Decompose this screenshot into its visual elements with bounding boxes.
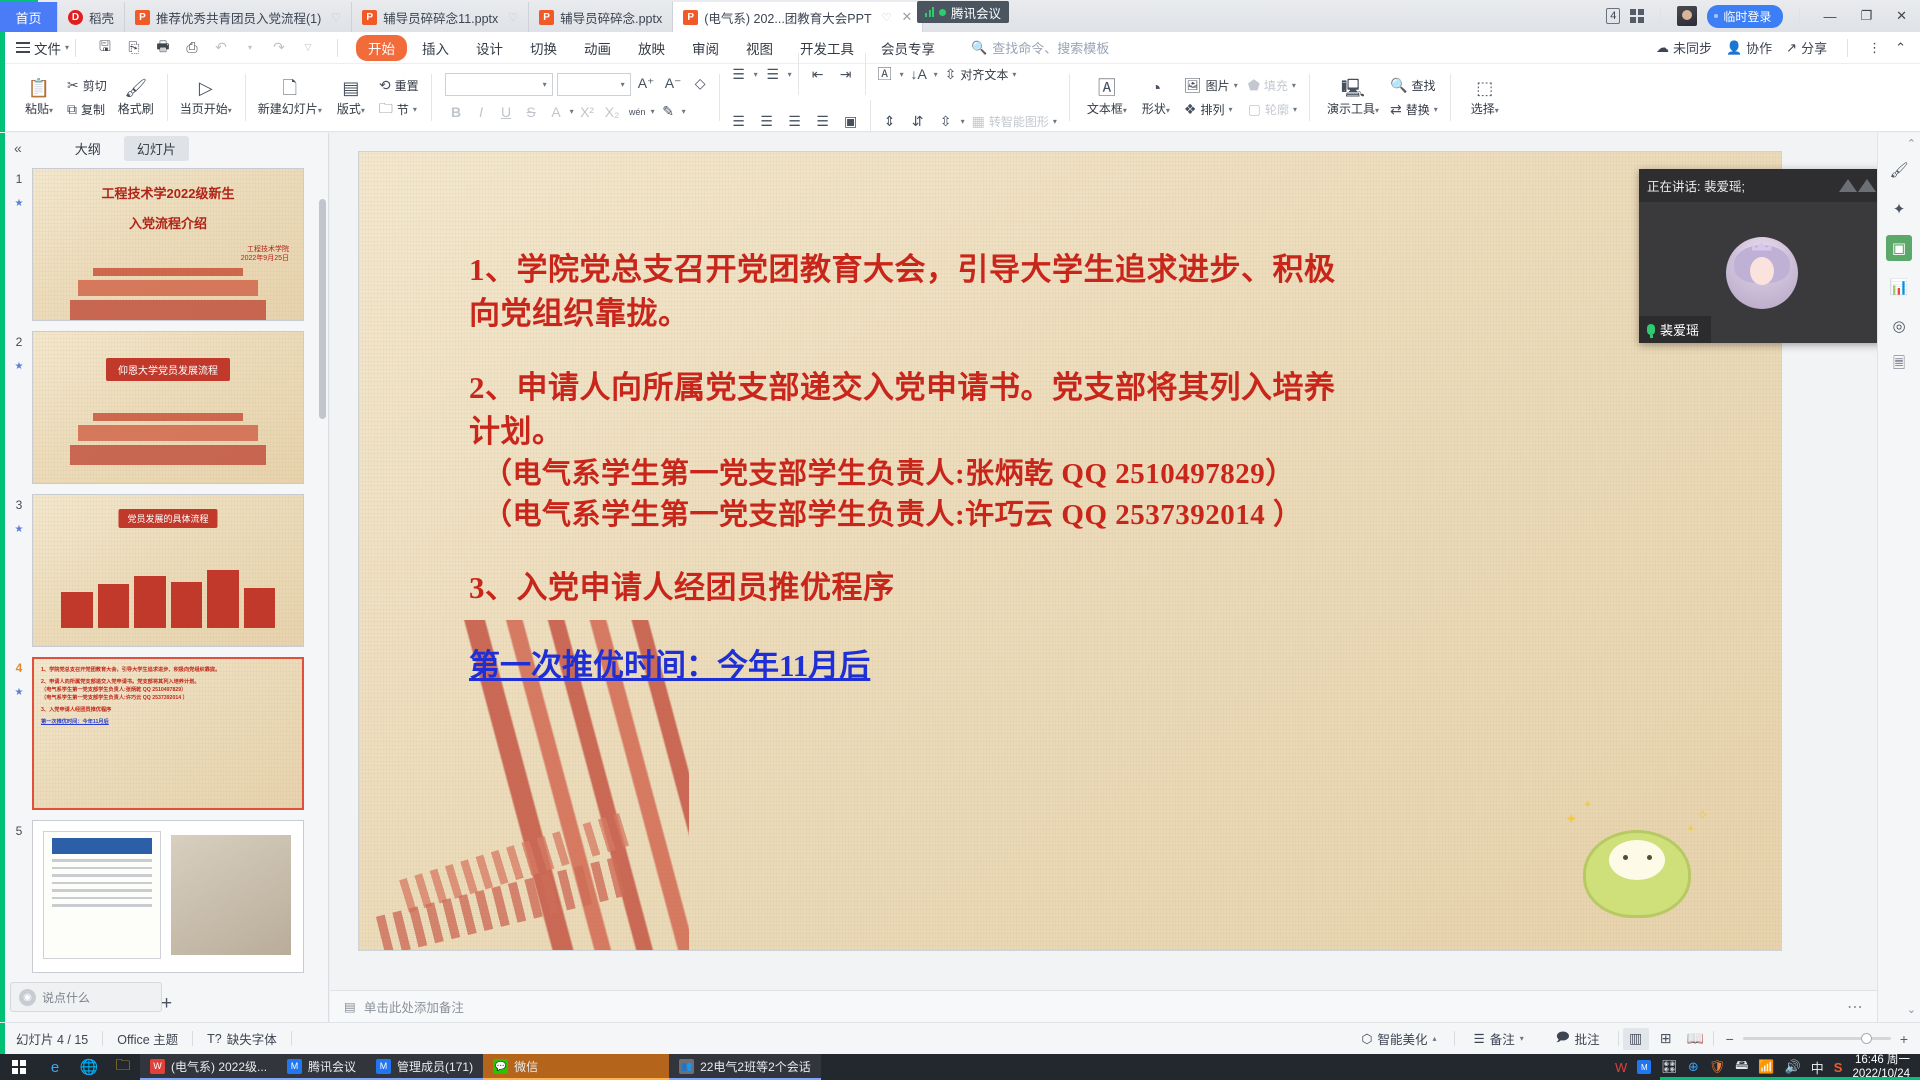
sync-status[interactable]: ☁ 未同步 bbox=[1656, 38, 1712, 57]
notes-bar[interactable]: ▤ 单击此处添加备注 ⋯ bbox=[330, 990, 1877, 1022]
location-icon[interactable]: ◎ bbox=[1886, 313, 1912, 339]
thumb-heading: 仰恩大学党员发展流程 bbox=[106, 358, 230, 381]
pinyin-guide-button[interactable]: wén bbox=[626, 101, 649, 123]
speak-placeholder: 说点什么 bbox=[42, 989, 90, 1006]
spacing-options-icon[interactable]: ⇳ bbox=[933, 110, 959, 132]
tab-slideshow[interactable]: 放映 bbox=[626, 35, 677, 61]
person-add-icon: 👤 bbox=[1726, 40, 1742, 56]
video-panel-body: 裴爱瑶 bbox=[1639, 202, 1884, 343]
divider bbox=[1618, 1031, 1619, 1046]
expand-sidebar-icon[interactable]: ⌃ bbox=[1907, 137, 1916, 150]
align-text-button[interactable]: ⇳ 对齐文本 ▾ bbox=[940, 63, 1022, 85]
thumbnail-item-2[interactable]: 2 ★ 仰恩大学党员发展流程 bbox=[0, 326, 328, 489]
status-bar: 幻灯片 4 / 15 Office 主题 T? 缺失字体 ⬡ 智能美化 ▴ ☰ … bbox=[0, 1022, 1920, 1054]
clock[interactable]: 16:46 周一 2022/10/24 bbox=[1852, 1053, 1910, 1080]
thumb-body-text: 1、学院党总支召开党团教育大会，引导大学生追求进步、积极向党组织靠拢。 2、申请… bbox=[41, 666, 295, 726]
animation-star-icon: ★ bbox=[6, 198, 32, 209]
pin-icon[interactable]: ♡ bbox=[508, 11, 518, 24]
increase-indent-icon[interactable]: ⇥ bbox=[833, 63, 859, 85]
reset-button[interactable]: ⟲ 重置 bbox=[374, 75, 424, 97]
taskbar-app-meeting-label: 腾讯会议 bbox=[308, 1058, 356, 1075]
zoom-out-button[interactable]: − bbox=[1726, 1031, 1734, 1047]
volume-tray-icon[interactable]: 🔊 bbox=[1785, 1059, 1801, 1075]
tiananmen-illustration bbox=[53, 403, 283, 483]
slide-thumbnail[interactable]: 工程技术学2022级新生 入党流程介绍 工程技术学院 2022年9月25日 bbox=[32, 168, 304, 321]
grow-font-button[interactable]: A⁺ bbox=[635, 73, 658, 95]
tencent-meeting-logo-icon bbox=[1839, 179, 1876, 192]
tab-start[interactable]: 开始 bbox=[356, 35, 407, 61]
slideshow-group: ▷ 当页开始▾ bbox=[167, 64, 245, 131]
chevron-down-icon: ▾ bbox=[1520, 1034, 1524, 1043]
scissors-icon: ✂ bbox=[67, 77, 79, 94]
reading-view-icon[interactable]: 📖 bbox=[1683, 1028, 1709, 1050]
tab-design[interactable]: 设计 bbox=[464, 35, 515, 61]
smart-art-icon: ▦ bbox=[972, 113, 985, 130]
font-warning-icon: T? bbox=[207, 1032, 222, 1046]
star-effects-icon[interactable]: ✦ bbox=[1886, 196, 1912, 222]
slide-number: 4 ★ bbox=[6, 657, 32, 698]
menu-bar-right: ☁ 未同步 👤 协作 ↗ 分享 ⋮ ⌃ bbox=[1656, 38, 1920, 57]
minimize-button[interactable]: — bbox=[1816, 9, 1843, 24]
start-from-current-button[interactable]: ▷ 当页开始▾ bbox=[174, 75, 238, 121]
file-menu[interactable]: 文件 ▾ bbox=[0, 38, 69, 58]
notes-toggle-label: 备注 bbox=[1490, 1029, 1515, 1048]
divider bbox=[1847, 39, 1848, 57]
wifi-tray-icon[interactable]: 📶 bbox=[1758, 1059, 1774, 1075]
shapes-icon: ◔ bbox=[1150, 79, 1161, 97]
tab-outline[interactable]: 大纲 bbox=[62, 136, 114, 161]
zoom-slider[interactable]: − + bbox=[1718, 1031, 1908, 1047]
replace-label: 替换 bbox=[1406, 101, 1430, 118]
taskbar-app-wechat-label: 微信 bbox=[514, 1058, 538, 1075]
divider bbox=[1454, 1031, 1455, 1046]
green-accent bbox=[0, 1023, 5, 1055]
present-tools-label: 演示工具 bbox=[1327, 102, 1375, 116]
tools-group: 🖳 演示工具▾ 🔍 查找 ⇄ 替换▾ bbox=[1309, 64, 1450, 131]
tab-animation[interactable]: 动画 bbox=[572, 35, 623, 61]
tencent-meeting-label: 腾讯会议 bbox=[951, 3, 1001, 22]
superscript-button[interactable]: X² bbox=[576, 101, 599, 123]
fill-label: 填充 bbox=[1264, 77, 1288, 94]
thumb-process-chart bbox=[61, 566, 275, 628]
tab-docer-label: 稻壳 bbox=[89, 8, 114, 27]
windows-taskbar: e 🌐 🗀 W (电气系) 2022级... M 腾讯会议 M 管理成员(171… bbox=[0, 1054, 1920, 1080]
docer-icon: D bbox=[68, 10, 83, 25]
outline-button[interactable]: ▢ 轮廓▾ bbox=[1243, 99, 1302, 121]
powerpoint-icon: P bbox=[539, 10, 554, 25]
slide-editing-stage: ✦ ✦ ✧ ✦ 1、学院党总支召开党团教育大会，引导大学生追求进步、积极 向党组… bbox=[330, 133, 1877, 1022]
thumbnail-item-5[interactable]: 5 bbox=[0, 815, 328, 978]
spacer bbox=[469, 610, 1721, 640]
avatar[interactable] bbox=[1677, 6, 1697, 26]
powerpoint-icon: P bbox=[362, 10, 377, 25]
paragraph-group: ☰▾ ☰▾ ⇤ ⇥ 🄰▾ ↓A▾ ⇳ 对齐文本 ▾ ☰ ☰ bbox=[719, 64, 1069, 131]
system-tray: W M 🎛 ⊕ 🛡 🖴 📶 🔊 中 S 16:46 周一 2022/10/24 bbox=[1615, 1053, 1920, 1080]
chevron-down-icon: ▾ bbox=[621, 80, 625, 89]
select-button[interactable]: ⬚ 选择▾ bbox=[1462, 75, 1508, 121]
zoom-track[interactable] bbox=[1743, 1037, 1891, 1040]
tencent-meeting-icon: M bbox=[376, 1059, 391, 1074]
slide-number: 3 ★ bbox=[6, 494, 32, 535]
current-slide-canvas[interactable]: ✦ ✦ ✧ ✦ 1、学院党总支召开党团教育大会，引导大学生追求进步、积极 向党组… bbox=[358, 151, 1782, 951]
thumb-heading: 党员发展的具体流程 bbox=[118, 509, 217, 528]
format-brush-icon[interactable]: 🖌 bbox=[1886, 157, 1912, 183]
copy-button[interactable]: ⧉ 复制 bbox=[62, 99, 112, 121]
tencent-meeting-video-panel[interactable]: 正在讲话: 裴爱瑶; 裴爱瑶 bbox=[1639, 169, 1884, 343]
tab-review[interactable]: 审阅 bbox=[680, 35, 731, 61]
undo-icon[interactable]: ↶ bbox=[208, 36, 234, 60]
panel-tabs: « 大纲 幻灯片 bbox=[0, 133, 328, 163]
document-tab-bar: 首页 D 稻壳 P 推荐优秀共青团员入党流程(1) ♡ P 辅导员碎碎念11.p… bbox=[0, 0, 1920, 32]
highlight-button[interactable]: ✎ bbox=[657, 101, 680, 123]
meeting-tray-icon[interactable]: M bbox=[1637, 1060, 1651, 1074]
divider bbox=[291, 1031, 292, 1046]
strikethrough-button[interactable]: S bbox=[520, 101, 543, 123]
text-box-button[interactable]: 🄰 文本框▾ bbox=[1081, 75, 1133, 121]
grid-view-icon[interactable] bbox=[1630, 9, 1644, 23]
text-box-icon: 🄰 bbox=[1098, 79, 1116, 97]
shrink-font-button[interactable]: A⁻ bbox=[662, 73, 685, 95]
divider bbox=[1713, 1031, 1714, 1046]
speak-input-bar[interactable]: ◉ 说点什么 bbox=[10, 982, 162, 1012]
tab-document-3[interactable]: P 辅导员碎碎念.pptx bbox=[529, 2, 673, 32]
smart-art-label: 转智能图形 bbox=[989, 113, 1049, 130]
spacer bbox=[469, 536, 1721, 566]
outline-icon: ▢ bbox=[1248, 101, 1261, 118]
video-panel-header: 正在讲话: 裴爱瑶; bbox=[1639, 169, 1884, 202]
sort-icon[interactable]: ↓A bbox=[906, 63, 932, 85]
window-controls: 4 临时登录 — ❐ ✕ bbox=[1606, 0, 1920, 32]
notes-toggle-button[interactable]: ☰ 备注 ▾ bbox=[1459, 1029, 1537, 1048]
share-icon: ↗ bbox=[1786, 40, 1797, 56]
tencent-meeting-icon: M bbox=[287, 1059, 302, 1074]
taskbar-app-members[interactable]: M 管理成员(171) bbox=[366, 1054, 483, 1080]
microphone-icon bbox=[1647, 324, 1655, 335]
smart-art-button[interactable]: ▦ 转智能图形 ▾ bbox=[967, 110, 1062, 132]
select-group: ⬚ 选择▾ bbox=[1450, 64, 1515, 131]
subscript-button[interactable]: X₂ bbox=[601, 101, 624, 123]
notes-icon: ☰ bbox=[1473, 1031, 1484, 1046]
clipboard-group: 📋 粘贴▾ ✂ 剪切 ⧉ 复制 🖌 格式刷 bbox=[0, 64, 167, 131]
cut-label: 剪切 bbox=[83, 77, 107, 94]
thumb-title-line2: 入党流程介绍 bbox=[33, 213, 303, 232]
line-spacing-icon[interactable]: ⇕ bbox=[877, 110, 903, 132]
file-explorer-icon[interactable]: 🗀 bbox=[106, 1054, 140, 1080]
status-dot-icon bbox=[939, 9, 946, 16]
taskbar-app-wps[interactable]: W (电气系) 2022级... bbox=[140, 1054, 277, 1080]
right-tool-sidebar: ⌃ 🖌 ✦ ▣ 📊 ◎ 🗏 ⌄ bbox=[1877, 133, 1920, 1022]
clock-time: 16:46 周一 bbox=[1852, 1053, 1910, 1067]
slide-number: 1 ★ bbox=[6, 168, 32, 209]
internet-explorer-icon[interactable]: e bbox=[38, 1054, 72, 1080]
pin-icon[interactable]: ♡ bbox=[882, 11, 892, 24]
select-label: 选择 bbox=[1471, 102, 1495, 116]
format-painter-label: 格式刷 bbox=[118, 100, 154, 117]
paintbrush-icon: 🖌 bbox=[124, 79, 147, 97]
bullet-list-icon[interactable]: ☰ bbox=[726, 63, 752, 85]
notes-more-icon[interactable]: ⋯ bbox=[1847, 997, 1877, 1017]
tab-home-label: 首页 bbox=[15, 8, 41, 27]
find-button[interactable]: 🔍 查找 bbox=[1385, 75, 1443, 97]
paste-label: 粘贴 bbox=[25, 102, 49, 116]
page-tools-icon[interactable]: 🗏 bbox=[1886, 352, 1912, 378]
security-tray-icon[interactable]: 🛡 bbox=[1709, 1059, 1726, 1075]
collapse-ribbon-icon[interactable]: ⌃ bbox=[1895, 40, 1906, 56]
slides-group: 🗋 新建幻灯片▾ ▤ 版式▾ ⟲ 重置 🗀 节 ▾ bbox=[245, 64, 431, 131]
cloud-icon: ☁ bbox=[1656, 40, 1669, 56]
chevron-down-icon: ▾ bbox=[65, 43, 69, 52]
tab-document-1-label: 推荐优秀共青团员入党流程(1) bbox=[156, 8, 321, 27]
insert-group: 🄰 文本框▾ ◔ 形状▾ 🖼 图片▾ ❖ 排列▾ ⬟ bbox=[1069, 64, 1309, 131]
paste-button[interactable]: 📋 粘贴▾ bbox=[16, 75, 62, 121]
bold-button[interactable]: B bbox=[445, 101, 468, 123]
tab-document-2[interactable]: P 辅导员碎碎念11.pptx ♡ bbox=[352, 2, 529, 32]
start-button[interactable] bbox=[0, 1054, 38, 1080]
thumbnail-scrollbar[interactable] bbox=[319, 199, 326, 419]
arrange-button[interactable]: ❖ 排列▾ bbox=[1179, 99, 1243, 121]
fill-button[interactable]: ⬟ 填充▾ bbox=[1243, 75, 1302, 97]
layout-button[interactable]: ▤ 版式▾ bbox=[328, 75, 374, 121]
taskbar-app-members-label: 管理成员(171) bbox=[397, 1058, 473, 1075]
collaborate-button[interactable]: 👤 协作 bbox=[1726, 38, 1772, 57]
zoom-in-button[interactable]: + bbox=[1900, 1031, 1908, 1047]
tab-document-active-label: (电气系) 202...团教育大会PPT bbox=[704, 8, 871, 27]
undo-dropdown-icon[interactable]: ▾ bbox=[237, 36, 263, 60]
thumb-link-text: 第一次推优时间：今年11月后 bbox=[41, 718, 295, 726]
scroll-down-icon[interactable]: ⌄ bbox=[1907, 1003, 1916, 1016]
print-preview-icon[interactable]: ⎙ bbox=[179, 36, 205, 60]
thumb-photo-image bbox=[171, 835, 291, 955]
window-count-badge[interactable]: 4 bbox=[1606, 8, 1620, 24]
chevron-down-icon[interactable]: ▾ bbox=[651, 107, 655, 116]
section-label: 节 bbox=[397, 101, 409, 118]
picture-button[interactable]: 🖼 图片▾ bbox=[1179, 75, 1243, 97]
normal-view-icon[interactable]: ▥ bbox=[1623, 1028, 1649, 1050]
customize-qat-icon[interactable]: ▽ bbox=[295, 36, 321, 60]
outline-label: 轮廓 bbox=[1265, 101, 1289, 118]
format-painter-button[interactable]: 🖌 格式刷 bbox=[112, 75, 160, 121]
thumbnail-list[interactable]: 1 ★ 工程技术学2022级新生 入党流程介绍 工程技术学院 2022年9月25… bbox=[0, 163, 328, 986]
slide-thumbnail-selected[interactable]: 1、学院党总支召开党团教育大会，引导大学生追求进步、积极向党组织靠拢。 2、申请… bbox=[32, 657, 304, 810]
reset-label: 重置 bbox=[395, 77, 419, 94]
new-slide-label: 新建幻灯片 bbox=[258, 102, 318, 116]
tab-document-2-label: 辅导员碎碎念11.pptx bbox=[383, 8, 498, 27]
thumb-document-image bbox=[43, 831, 161, 959]
restore-button[interactable]: ❐ bbox=[1853, 8, 1879, 24]
shape-label: 形状 bbox=[1142, 102, 1166, 116]
slide-line-4: 计划。 bbox=[469, 410, 1721, 454]
justify-icon[interactable]: ☰ bbox=[810, 110, 836, 132]
thunder-tray-icon[interactable]: ⊕ bbox=[1688, 1059, 1699, 1075]
font-name-input[interactable]: ▾ bbox=[445, 73, 553, 96]
speaking-label: 正在讲话: 裴爱瑶; bbox=[1647, 176, 1745, 195]
text-direction-icon[interactable]: 🄰 bbox=[872, 63, 898, 85]
slide-line-2: 向党组织靠拢。 bbox=[469, 292, 1721, 336]
tab-document-1[interactable]: P 推荐优秀共青团员入党流程(1) ♡ bbox=[125, 2, 352, 32]
redo-icon[interactable]: ↷ bbox=[266, 36, 292, 60]
new-slide-icon: 🗋 bbox=[283, 79, 297, 97]
clear-format-icon[interactable]: ◇ bbox=[689, 73, 712, 95]
notes-icon: ▤ bbox=[344, 999, 356, 1014]
participant-avatar bbox=[1726, 237, 1798, 309]
play-circle-icon: ▷ bbox=[199, 79, 213, 97]
powerpoint-icon: P bbox=[135, 10, 150, 25]
present-tools-icon: 🖳 bbox=[1341, 79, 1365, 97]
fill-icon: ⬟ bbox=[1248, 77, 1260, 94]
taskbar-app-wechat[interactable]: 💬 微信 bbox=[483, 1054, 669, 1080]
wechat-icon: 💬 bbox=[493, 1059, 508, 1074]
start-from-current-label: 当页开始 bbox=[180, 102, 228, 116]
save-icon[interactable]: 🖫 bbox=[92, 36, 118, 60]
wps-tray-icon[interactable]: W bbox=[1615, 1060, 1627, 1075]
copy-label: 复制 bbox=[81, 101, 105, 118]
animation-star-icon: ★ bbox=[6, 361, 32, 372]
font-size-input[interactable]: ▾ bbox=[557, 73, 631, 96]
thumbnail-item-3[interactable]: 3 ★ 党员发展的具体流程 bbox=[0, 489, 328, 652]
replace-icon: ⇄ bbox=[1390, 101, 1402, 118]
zoom-handle[interactable] bbox=[1861, 1033, 1872, 1044]
numbered-list-icon[interactable]: ☰ bbox=[760, 63, 786, 85]
slide-thumbnail[interactable] bbox=[32, 820, 304, 973]
taskbar-app-meeting[interactable]: M 腾讯会议 bbox=[277, 1054, 366, 1080]
distribute-icon[interactable]: ▣ bbox=[838, 110, 864, 132]
sync-status-label: 未同步 bbox=[1673, 38, 1712, 57]
chevron-down-icon: ▾ bbox=[543, 80, 547, 89]
green-accent bbox=[0, 32, 5, 64]
text-box-label: 文本框 bbox=[1087, 102, 1123, 116]
ime-indicator[interactable]: 中 bbox=[1811, 1058, 1824, 1077]
missing-font-label: 缺失字体 bbox=[227, 1029, 277, 1048]
replace-button[interactable]: ⇄ 替换▾ bbox=[1385, 99, 1443, 121]
collaborate-label: 协作 bbox=[1746, 38, 1772, 57]
tab-transition[interactable]: 切换 bbox=[518, 35, 569, 61]
taskbar-app-wechat-chats-label: 22电气2班等2个会话 bbox=[700, 1058, 811, 1075]
arrange-label: 排列 bbox=[1200, 101, 1224, 118]
image-tools-icon[interactable]: ▣ bbox=[1886, 235, 1912, 261]
slide-thumbnail[interactable]: 仰恩大学党员发展流程 bbox=[32, 331, 304, 484]
mascot-illustration: ✦ ✦ ✧ ✦ bbox=[1561, 802, 1711, 922]
status-bar-right: ⬡ 智能美化 ▴ ☰ 备注 ▾ 🗩 批注 ▥ ⊞ 📖 − + bbox=[1348, 1028, 1920, 1050]
slide-text-body[interactable]: 1、学院党总支召开党团教育大会，引导大学生追求进步、积极 向党组织靠拢。 2、申… bbox=[469, 248, 1721, 687]
animation-star-icon: ★ bbox=[6, 524, 32, 535]
speak-icon: ◉ bbox=[19, 989, 36, 1006]
tiananmen-illustration bbox=[68, 258, 268, 320]
taskbar-app-wps-label: (电气系) 2022级... bbox=[171, 1058, 267, 1075]
close-icon[interactable]: ✕ bbox=[902, 9, 913, 25]
decrease-indent-icon[interactable]: ⇤ bbox=[805, 63, 831, 85]
pin-icon[interactable]: ♡ bbox=[331, 11, 341, 24]
comment-button[interactable]: 🗩 批注 bbox=[1542, 1028, 1614, 1049]
hamburger-icon bbox=[16, 42, 30, 53]
sogou-icon[interactable]: S bbox=[1834, 1060, 1843, 1075]
chart-icon[interactable]: 📊 bbox=[1886, 274, 1912, 300]
close-button[interactable]: ✕ bbox=[1889, 8, 1914, 24]
tab-insert[interactable]: 插入 bbox=[410, 35, 461, 61]
reset-icon: ⟲ bbox=[379, 77, 391, 94]
login-button[interactable]: 临时登录 bbox=[1707, 5, 1783, 28]
chevron-down-icon[interactable]: ▾ bbox=[570, 107, 574, 116]
tencent-meeting-floating-badge[interactable]: 腾讯会议 bbox=[917, 1, 1009, 23]
file-menu-label: 文件 bbox=[34, 38, 61, 58]
more-options-icon[interactable]: ⋮ bbox=[1868, 40, 1881, 56]
shape-button[interactable]: ◔ 形状▾ bbox=[1133, 75, 1179, 121]
align-right-icon[interactable]: ☰ bbox=[782, 110, 808, 132]
search-icon: 🔍 bbox=[1390, 77, 1407, 94]
slide-counter[interactable]: 幻灯片 4 / 15 bbox=[0, 1029, 102, 1048]
slide-line-6: （电气系学生第一党支部学生负责人:许巧云 QQ 2537392014 ） bbox=[469, 495, 1721, 536]
find-label: 查找 bbox=[1411, 77, 1435, 94]
slide-hyperlink[interactable]: 第一次推优时间：今年11月后 bbox=[469, 640, 870, 687]
tab-document-active[interactable]: P (电气系) 202...团教育大会PPT ♡ ✕ bbox=[673, 2, 923, 32]
new-slide-button[interactable]: 🗋 新建幻灯片▾ bbox=[252, 75, 328, 121]
chrome-icon[interactable]: 🌐 bbox=[72, 1054, 106, 1080]
tab-document-3-label: 辅导员碎碎念.pptx bbox=[560, 8, 662, 27]
usb-tray-icon[interactable]: 🖴 bbox=[1735, 1056, 1748, 1078]
thumbnail-item-1[interactable]: 1 ★ 工程技术学2022级新生 入党流程介绍 工程技术学院 2022年9月25… bbox=[0, 163, 328, 326]
ribbon-toolbar: 📋 粘贴▾ ✂ 剪切 ⧉ 复制 🖌 格式刷 ▷ 当页开始▾ bbox=[0, 64, 1920, 132]
present-tools-button[interactable]: 🖳 演示工具▾ bbox=[1321, 75, 1385, 121]
notes-placeholder: 单击此处添加备注 bbox=[364, 997, 464, 1016]
slide-sorter-icon[interactable]: ⊞ bbox=[1653, 1028, 1679, 1050]
thumbnail-item-4[interactable]: 4 ★ 1、学院党总支召开党团教育大会，引导大学生追求进步、积极向党组织靠拢。 … bbox=[0, 652, 328, 815]
slide-number: 5 bbox=[6, 820, 32, 838]
slide-line-7: 3、入党申请人经团员推优程序 bbox=[469, 566, 1721, 610]
slide-thumbnail[interactable]: 党员发展的具体流程 bbox=[32, 494, 304, 647]
section-button[interactable]: 🗀 节 ▾ bbox=[374, 99, 424, 121]
share-button[interactable]: ↗ 分享 bbox=[1786, 38, 1827, 57]
tab-slides[interactable]: 幻灯片 bbox=[124, 136, 189, 161]
layout-icon: ▤ bbox=[342, 79, 359, 97]
slide-line-5: （电气系学生第一党支部学生负责人:张炳乾 QQ 2510497829） bbox=[469, 454, 1721, 495]
cut-button[interactable]: ✂ 剪切 bbox=[62, 75, 112, 97]
align-text-label: 对齐文本 bbox=[960, 66, 1008, 83]
arrange-icon: ❖ bbox=[1184, 101, 1197, 118]
spacer bbox=[469, 336, 1721, 366]
beautify-icon: ⬡ bbox=[1362, 1031, 1373, 1046]
copy-icon: ⧉ bbox=[67, 101, 77, 118]
divider bbox=[1660, 7, 1661, 25]
windows-logo-icon bbox=[12, 1060, 26, 1074]
underline-button[interactable]: U bbox=[495, 101, 518, 123]
wechat-chat-icon: 👥 bbox=[679, 1059, 694, 1074]
tab-docer[interactable]: D 稻壳 bbox=[58, 2, 125, 32]
chevron-up-icon: ▴ bbox=[1432, 1034, 1436, 1043]
print-icon[interactable]: 🖶 bbox=[150, 36, 176, 60]
share-label: 分享 bbox=[1801, 38, 1827, 57]
select-pointer-icon: ⬚ bbox=[1476, 79, 1493, 97]
paragraph-spacing-icon[interactable]: ⇵ bbox=[905, 110, 931, 132]
align-center-icon[interactable]: ☰ bbox=[754, 110, 780, 132]
chevron-down-icon[interactable]: ▾ bbox=[682, 107, 686, 116]
divider bbox=[75, 39, 76, 57]
apps-tray-icon[interactable]: 🎛 bbox=[1661, 1059, 1678, 1075]
quick-access-toolbar: 🖫 ⎘ 🖶 ⎙ ↶ ▾ ↷ ▽ bbox=[82, 36, 331, 60]
clipboard-icon: 📋 bbox=[28, 79, 50, 97]
taskbar-app-wechat-chats[interactable]: 👥 22电气2班等2个会话 bbox=[669, 1054, 821, 1080]
beautify-button[interactable]: ⬡ 智能美化 ▴ bbox=[1348, 1029, 1451, 1048]
font-color-button[interactable]: A bbox=[545, 101, 568, 123]
save-as-icon[interactable]: ⎘ bbox=[121, 36, 147, 60]
slide-number: 2 ★ bbox=[6, 331, 32, 372]
tab-home[interactable]: 首页 bbox=[0, 2, 58, 32]
align-left-icon[interactable]: ☰ bbox=[726, 110, 752, 132]
theme-label[interactable]: Office 主题 bbox=[103, 1029, 192, 1048]
italic-button[interactable]: I bbox=[470, 101, 493, 123]
wps-icon: W bbox=[150, 1059, 165, 1074]
missing-font-status[interactable]: T? 缺失字体 bbox=[193, 1029, 291, 1048]
collapse-panel-icon[interactable]: « bbox=[8, 140, 28, 156]
beautify-label: 智能美化 bbox=[1377, 1029, 1427, 1048]
